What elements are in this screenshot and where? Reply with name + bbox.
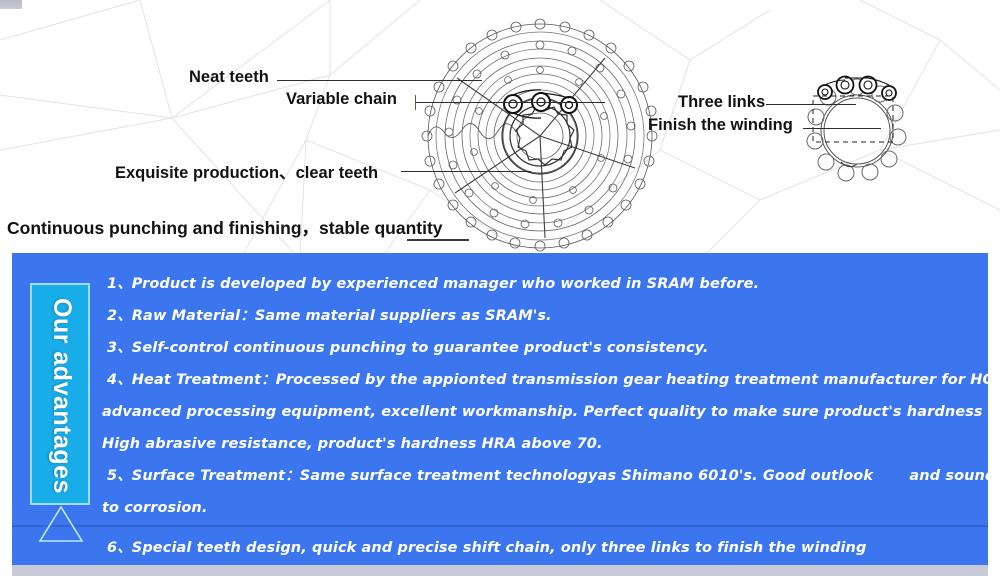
advantage-item-2: 2、Raw Material：Same material suppliers a… <box>107 300 977 332</box>
advantage-item-4-cont-2: High abrasive resistance, product's hard… <box>102 428 977 460</box>
our-advantages-tab: Our advantages <box>30 283 90 505</box>
page-corner-tab <box>0 0 22 9</box>
advantage-item-4: 4、Heat Treatment：Processed by the appion… <box>107 364 977 396</box>
sprocket-detail-drawing <box>795 68 920 190</box>
callout-continuous-punching: Continuous punching and finishing，stable… <box>7 215 443 240</box>
leader-line-exquisite <box>401 171 531 172</box>
poster-root: Neat teeth Variable chain Exquisite prod… <box>0 0 1000 576</box>
leader-tick-variable-chain <box>415 95 416 110</box>
advantage-item-3: 3、Self-control continuous punching to gu… <box>107 332 977 364</box>
advantages-list: 1、Product is developed by experienced ma… <box>107 268 977 564</box>
leader-line-neat-teeth <box>277 80 482 81</box>
callout-variable-chain: Variable chain <box>286 90 397 109</box>
advantage-item-5-cont: to corrosion. <box>102 492 977 524</box>
advantage-item-6: 6、Special teeth design, quick and precis… <box>107 532 977 564</box>
advantage-item-4-cont-1: advanced processing equipment, excellent… <box>102 396 977 428</box>
advantage-item-1: 1、Product is developed by experienced ma… <box>107 268 977 300</box>
leader-line-variable-chain <box>415 102 605 103</box>
advantage-item-5-tail: and sounds resistance <box>909 468 1000 484</box>
callout-finish-the-winding: Finish the winding <box>648 116 793 135</box>
panel-shadow-strip <box>12 565 988 576</box>
advantage-item-5-main: 5、Surface Treatment：Same surface treatme… <box>107 468 873 484</box>
callout-exquisite-production: Exquisite production、clear teeth <box>115 159 378 183</box>
leader-line-three-links <box>766 104 856 105</box>
tab-arrow-icon <box>38 505 84 543</box>
advantage-item-5: 5、Surface Treatment：Same surface treatme… <box>107 460 977 492</box>
callout-three-links: Three links <box>678 93 765 112</box>
callout-neat-teeth: Neat teeth <box>189 68 269 87</box>
leader-line-finish-winding <box>803 128 881 129</box>
our-advantages-label: Our advantages <box>32 285 92 507</box>
